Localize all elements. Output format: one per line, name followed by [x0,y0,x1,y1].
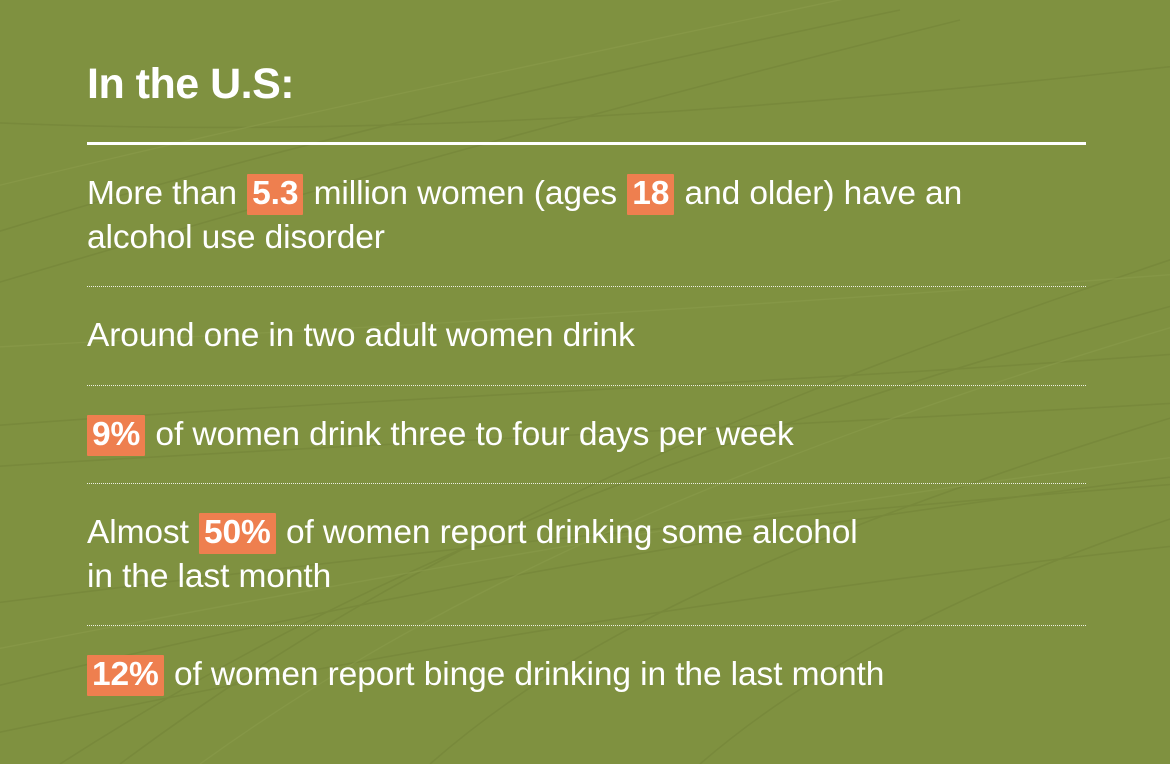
fact-line: More than 5.3 million women (ages 18 and… [87,172,1086,216]
stat-highlight: 18 [627,174,674,215]
fact-line: 9% of women drink three to four days per… [87,413,1086,457]
fact-line: 12% of women report binge drinking in th… [87,653,1086,697]
content-column: In the U.S: More than 5.3 million women … [87,0,1086,764]
fact-line: alcohol use disorder [87,216,1086,260]
stat-highlight: 5.3 [247,174,303,215]
stat-highlight: 12% [87,655,164,696]
fact-list: More than 5.3 million women (ages 18 and… [87,145,1086,723]
fact-item-three-to-four-days: 9% of women drink three to four days per… [87,386,1086,483]
fact-line: Around one in two adult women drink [87,314,1086,358]
fact-item-some-alcohol-last-month: Almost 50% of women report drinking some… [87,484,1086,625]
fact-item-binge-drinking-last-month: 12% of women report binge drinking in th… [87,626,1086,723]
fact-text: More than 5.3 million women (ages 18 and… [87,172,1086,260]
page-title: In the U.S: [87,62,294,107]
infographic-card: In the U.S: More than 5.3 million women … [0,0,1170,764]
fact-text: 9% of women drink three to four days per… [87,413,1086,457]
fact-text: Around one in two adult women drink [87,314,1086,358]
fact-item-alcohol-use-disorder: More than 5.3 million women (ages 18 and… [87,145,1086,286]
fact-text: 12% of women report binge drinking in th… [87,653,1086,697]
fact-line: Almost 50% of women report drinking some… [87,511,1086,555]
fact-line: in the last month [87,555,1086,599]
stat-highlight: 9% [87,415,145,456]
fact-text: Almost 50% of women report drinking some… [87,511,1086,599]
stat-highlight: 50% [199,513,276,554]
fact-item-one-in-two-drink: Around one in two adult women drink [87,287,1086,385]
